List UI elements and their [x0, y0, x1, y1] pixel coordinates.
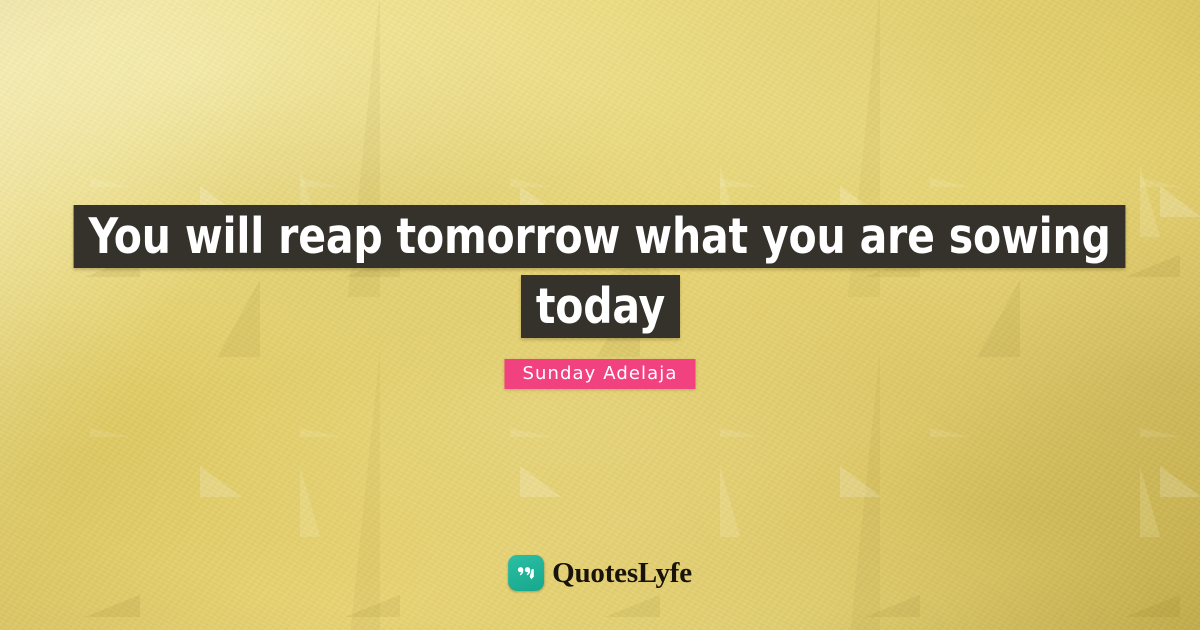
author-badge: Sunday Adelaja	[504, 359, 695, 389]
card-content: You will reap tomorrow what you are sowi…	[0, 0, 1200, 630]
quote-line-1: You will reap tomorrow what you are sowi…	[74, 205, 1126, 268]
quote-card: You will reap tomorrow what you are sowi…	[0, 0, 1200, 630]
quote-line-2: today	[521, 275, 680, 338]
quote-text-block: You will reap tomorrow what you are sowi…	[0, 205, 1200, 338]
quote-smiley-icon	[508, 555, 544, 591]
brand-logo[interactable]: QuotesLyfe	[508, 555, 692, 591]
brand-name: QuotesLyfe	[552, 559, 692, 588]
